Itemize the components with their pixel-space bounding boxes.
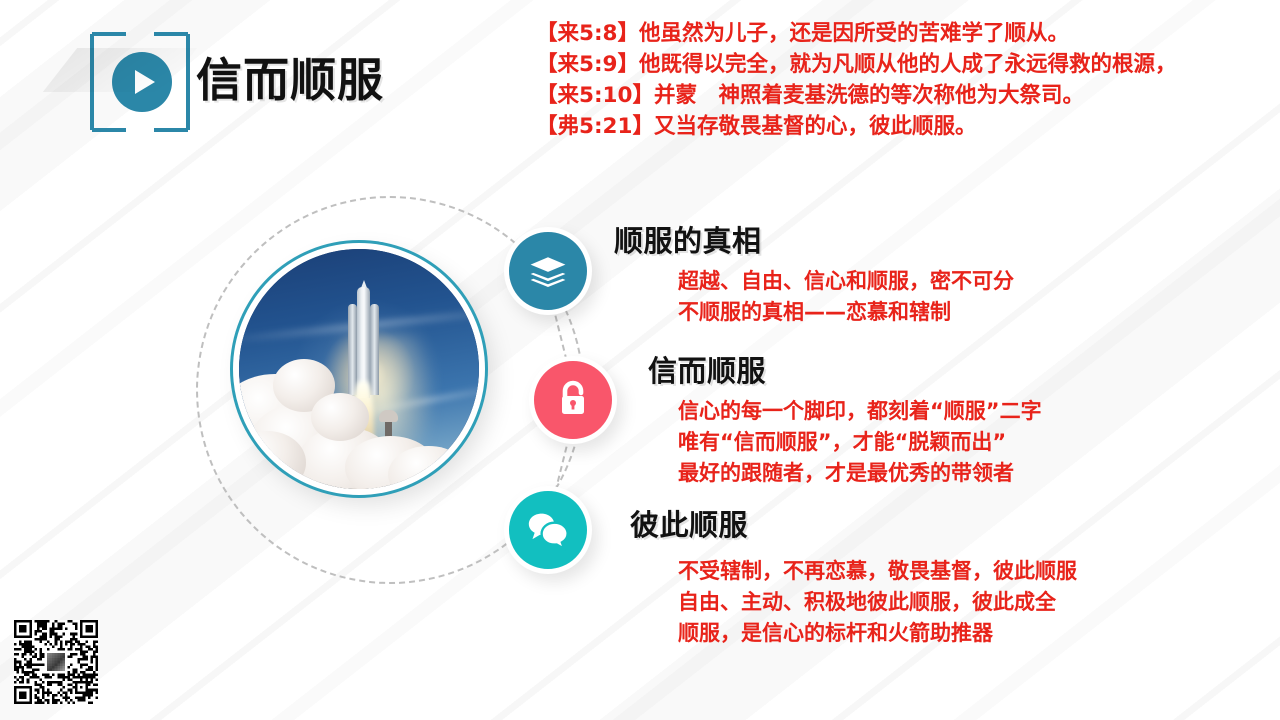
scripture-block: 【来5:8】他虽然为儿子，还是因所受的苦难学了顺从。 【来5:9】他既得以完全，… — [536, 18, 1280, 142]
logo[interactable] — [88, 30, 192, 134]
section-heading: 顺服的真相 — [614, 224, 1014, 258]
scripture-line: 【来5:8】他虽然为儿子，还是因所受的苦难学了顺从。 — [536, 18, 1280, 49]
play-triangle-icon — [135, 70, 155, 94]
scripture-line: 【来5:9】他既得以完全，就为凡顺从他的人成了永远得救的根源， — [536, 49, 1280, 80]
section-body-line: 信心的每一个脚印，都刻着“顺服”二字 — [678, 396, 1042, 427]
section-truth-of-obedience: 顺服的真相 超越、自由、信心和顺服，密不可分 不顺服的真相——恋慕和辖制 — [614, 224, 1014, 328]
rocket-launch-photo — [233, 243, 485, 495]
section-body: 不受辖制，不再恋慕，敬畏基督，彼此顺服 自由、主动、积极地彼此顺服，彼此成全 顺… — [678, 556, 1077, 649]
chat-bubbles-icon[interactable] — [504, 486, 592, 574]
layers-glyph-icon — [526, 249, 570, 293]
section-heading: 信而顺服 — [648, 354, 1042, 388]
section-body-line: 唯有“信而顺服”，才能“脱颖而出” — [678, 427, 1042, 458]
play-button-icon[interactable] — [112, 52, 172, 112]
section-body-line: 自由、主动、积极地彼此顺服，彼此成全 — [678, 587, 1077, 618]
padlock-glyph-icon — [553, 378, 593, 422]
unlock-padlock-icon[interactable] — [529, 356, 617, 444]
photo-smoke-plume — [311, 393, 369, 441]
qr-code[interactable] — [14, 620, 98, 704]
scripture-line: 【来5:10】并蒙 神照着麦基洗德的等次称他为大祭司。 — [536, 80, 1280, 111]
chat-bubbles-glyph-icon — [526, 509, 570, 551]
scripture-line: 【弗5:21】又当存敬畏基督的心，彼此顺服。 — [536, 111, 1280, 142]
section-body-line: 最好的跟随者，才是最优秀的带领者 — [678, 458, 1042, 489]
header: 信而顺服 — [0, 0, 520, 160]
page-title: 信而顺服 — [196, 44, 384, 110]
photo-smoke-plume — [233, 431, 306, 493]
photo-water-tower-top — [379, 410, 398, 422]
section-body-line: 不受辖制，不再恋慕，敬畏基督，彼此顺服 — [678, 556, 1077, 587]
slide-canvas: 信而顺服 【来5:8】他虽然为儿子，还是因所受的苦难学了顺从。 【来5:9】他既… — [0, 0, 1280, 720]
section-body-line: 不顺服的真相——恋慕和辖制 — [678, 297, 1014, 328]
section-believe-and-obey: 信而顺服 信心的每一个脚印，都刻着“顺服”二字 唯有“信而顺服”，才能“脱颖而出… — [648, 354, 1042, 489]
section-heading: 彼此顺服 — [630, 508, 1077, 542]
layers-icon[interactable] — [504, 227, 592, 315]
photo-booster-right — [370, 304, 379, 395]
section-body-line: 顺服，是信心的标杆和火箭助推器 — [678, 618, 1077, 649]
section-body: 信心的每一个脚印，都刻着“顺服”二字 唯有“信而顺服”，才能“脱颖而出” 最好的… — [678, 396, 1042, 489]
section-submit-one-another: 彼此顺服 不受辖制，不再恋慕，敬畏基督，彼此顺服 自由、主动、积极地彼此顺服，彼… — [630, 508, 1077, 649]
section-body-line: 超越、自由、信心和顺服，密不可分 — [678, 266, 1014, 297]
qr-code-canvas — [14, 620, 98, 704]
section-body: 超越、自由、信心和顺服，密不可分 不顺服的真相——恋慕和辖制 — [678, 266, 1014, 328]
photo-booster-left — [348, 304, 357, 395]
